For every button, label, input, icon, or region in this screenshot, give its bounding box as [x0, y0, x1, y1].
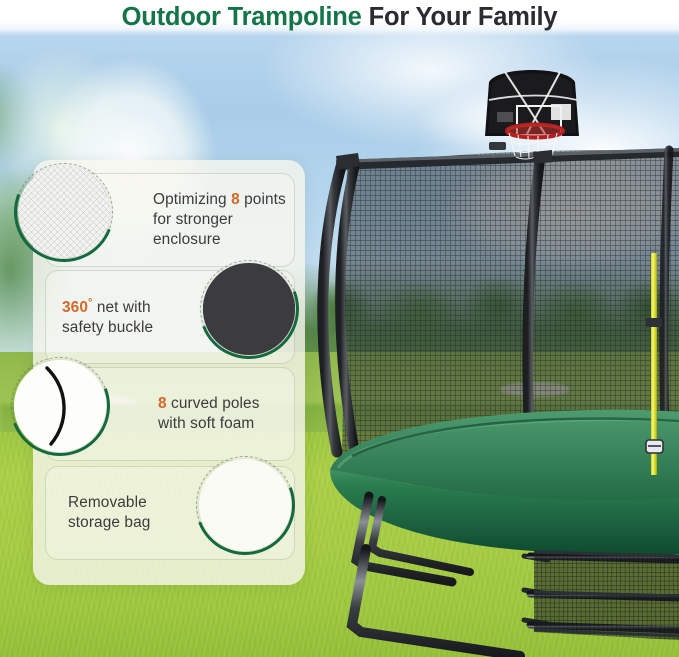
product-feature-image: Outdoor Trampoline For Your Family Optim… [0, 0, 679, 657]
feature-thumb-curved-poles[interactable] [14, 360, 106, 452]
feature-thumb-enclosure-points[interactable] [18, 166, 110, 258]
feature-text-part: curved poles with soft foam [158, 395, 260, 432]
page-title-highlight: Outdoor Trampoline [122, 3, 362, 32]
feature-text-highlight: 8 [231, 191, 240, 208]
feature-text-safety-buckle: 360° net with safety buckle [62, 296, 192, 338]
feature-text-enclosure-points: Optimizing 8 points for stronger enclosu… [153, 190, 287, 250]
page-title: Outdoor Trampoline For Your Family [0, 0, 679, 34]
feature-text-storage-bag: Removable storage bag [68, 493, 188, 533]
feature-text-part: Removable storage bag [68, 494, 150, 531]
feature-thumb-safety-buckle[interactable] [203, 263, 295, 355]
feature-text-highlight: 360 [62, 299, 88, 316]
page-title-rest: For Your Family [369, 3, 558, 32]
storage-bag [534, 552, 679, 640]
feature-text-highlight: 8 [158, 395, 167, 412]
feature-text-part: Optimizing [153, 191, 231, 208]
feature-text-curved-poles: 8 curved poles with soft foam [158, 394, 286, 434]
feature-thumb-storage-bag[interactable] [199, 459, 291, 551]
